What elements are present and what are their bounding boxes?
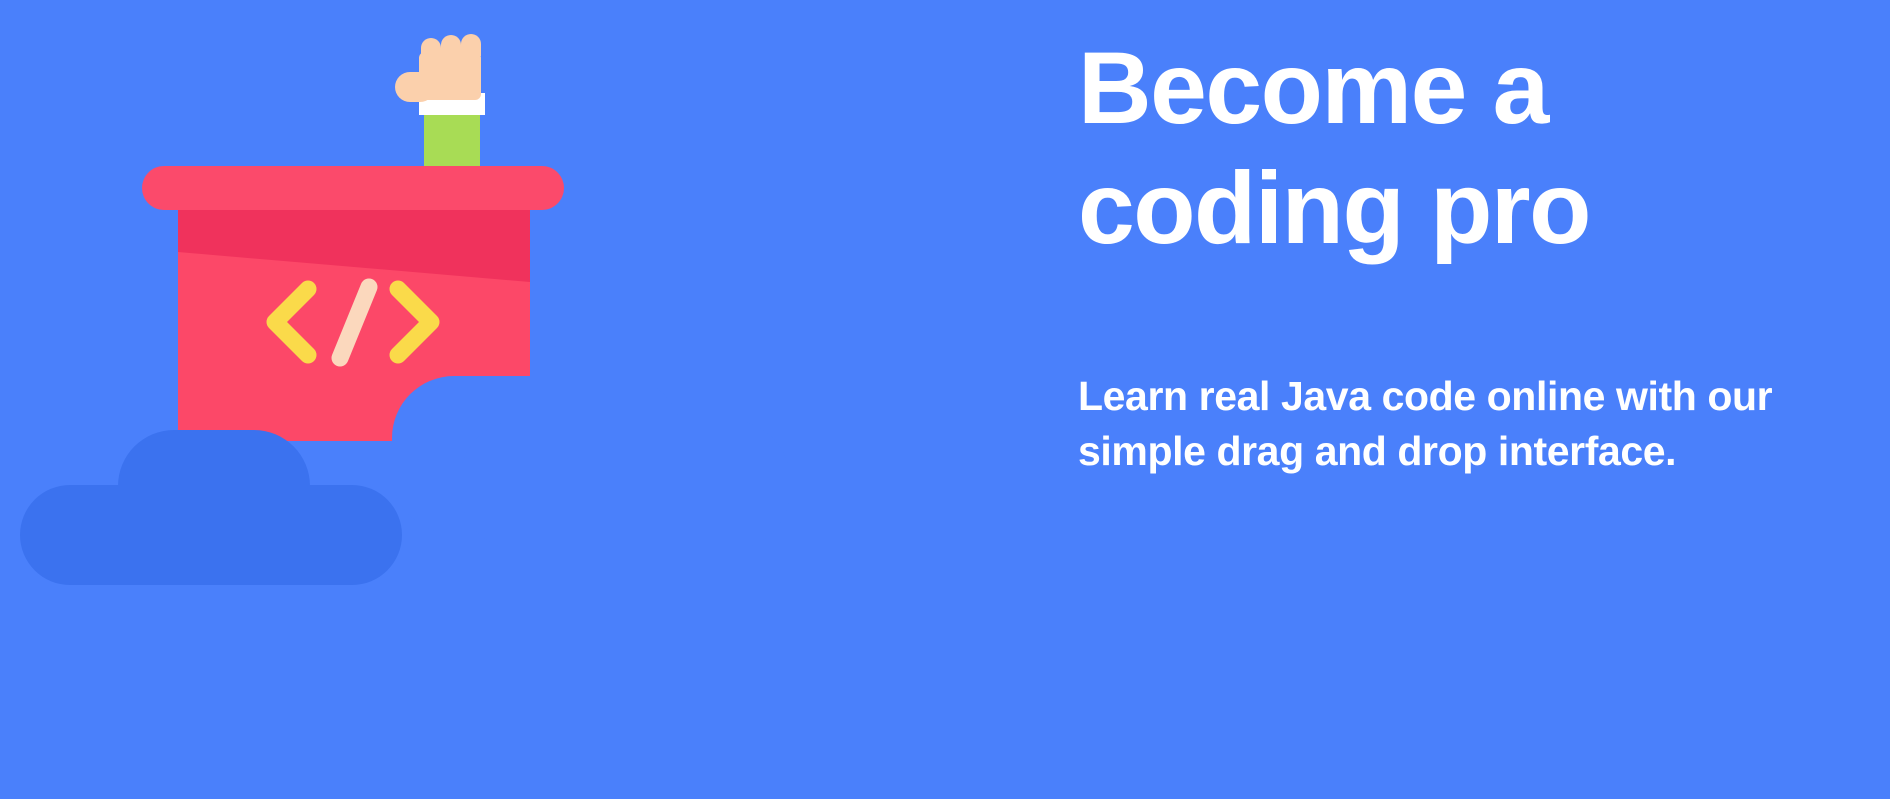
hero-illustration	[0, 0, 860, 799]
page-title: Become a coding pro	[1078, 28, 1718, 269]
hero-subtitle: Learn real Java code online with our sim…	[1078, 269, 1868, 480]
box-lid-shape	[142, 166, 564, 210]
hero-copy-block: Become a coding pro Learn real Java code…	[1078, 28, 1868, 479]
hero-banner: Become a coding pro Learn real Java code…	[0, 0, 1890, 799]
